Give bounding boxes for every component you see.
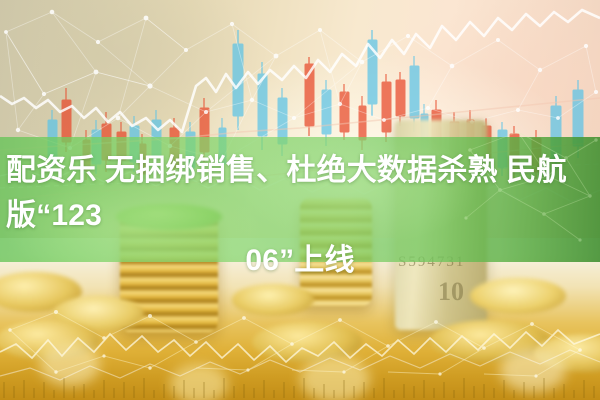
headline-line-2: 06”上线: [6, 238, 594, 283]
headline-line-1: 配资乐 无捆绑销售、杜绝大数据杀熟 民航版“123: [6, 148, 594, 238]
banner-image: S594731 10: [0, 0, 600, 400]
headline-text: 配资乐 无捆绑销售、杜绝大数据杀熟 民航版“123 06”上线: [0, 148, 600, 283]
